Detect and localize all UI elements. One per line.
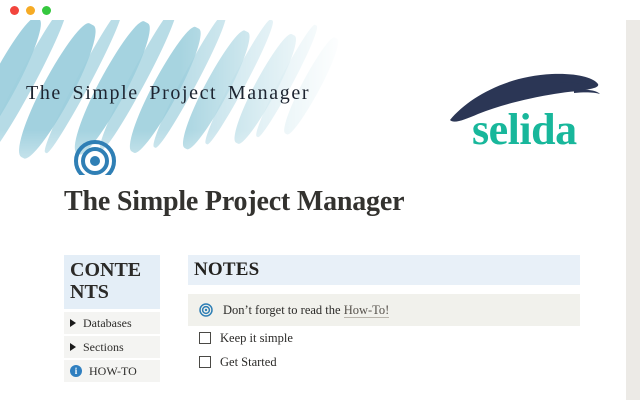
app-window: The Simple Project Manager selida The Si… [0, 0, 640, 400]
checkbox-icon[interactable] [199, 332, 211, 344]
checkbox-icon[interactable] [199, 356, 211, 368]
sidebar-item-databases[interactable]: Databases [64, 312, 160, 334]
callout-text: Don’t forget to read the How-To! [223, 303, 389, 318]
logo-wordmark: selida [472, 108, 577, 152]
triangle-right-icon[interactable] [70, 319, 76, 327]
title-bar [0, 0, 640, 20]
maximize-button[interactable] [42, 6, 51, 15]
info-circle-icon: i [70, 365, 82, 377]
page-title: The Simple Project Manager [64, 186, 404, 218]
traffic-lights [10, 6, 51, 15]
minimize-button[interactable] [26, 6, 35, 15]
page-right-margin [626, 0, 640, 400]
sidebar-item-label: HOW-TO [89, 364, 137, 379]
todo-item-keep-it-simple[interactable]: Keep it simple [188, 326, 580, 350]
sidebar-item-sections[interactable]: Sections [64, 336, 160, 358]
sidebar-item-label: Sections [83, 340, 124, 355]
selida-logo: selida [448, 68, 610, 156]
notes-callout: Don’t forget to read the How-To! [188, 294, 580, 326]
todo-item-get-started[interactable]: Get Started [188, 350, 580, 374]
callout-text-lead: Don’t forget to read the [223, 303, 344, 317]
target-icon [199, 303, 213, 317]
page-banner: The Simple Project Manager selida [0, 20, 640, 175]
contents-header: CONTENTS [64, 255, 160, 309]
sidebar-item-label: Databases [83, 316, 132, 331]
notes-panel: NOTES Don’t forget to read the How-To! K… [188, 255, 580, 374]
banner-title: The Simple Project Manager [26, 82, 310, 105]
todo-label: Get Started [220, 355, 277, 370]
how-to-link[interactable]: How-To! [344, 303, 390, 318]
contents-list: Databases Sections i HOW-TO [64, 312, 160, 382]
target-icon [74, 140, 116, 175]
triangle-right-icon[interactable] [70, 343, 76, 351]
todo-label: Keep it simple [220, 331, 293, 346]
sidebar-item-how-to[interactable]: i HOW-TO [64, 360, 160, 382]
notes-header: NOTES [188, 255, 580, 285]
contents-panel: CONTENTS Databases Sections i HOW-TO [64, 255, 160, 384]
close-button[interactable] [10, 6, 19, 15]
